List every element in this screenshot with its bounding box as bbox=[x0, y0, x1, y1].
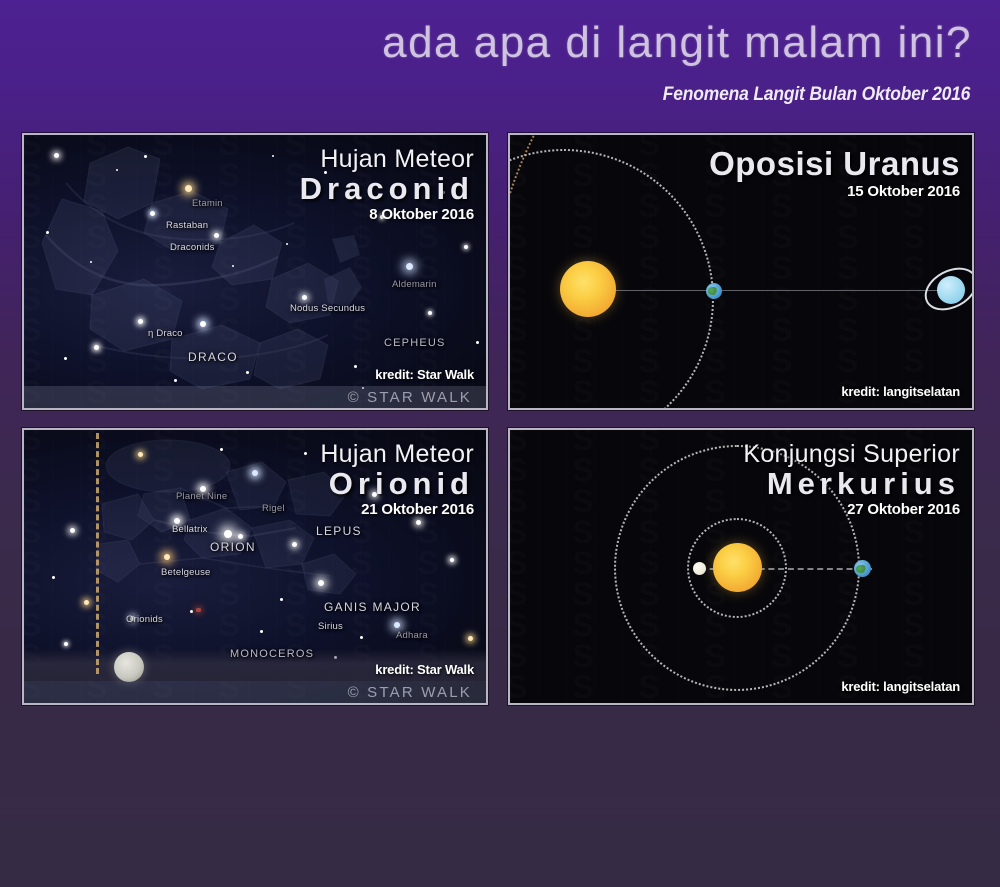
star-rigel bbox=[252, 470, 258, 476]
star bbox=[200, 321, 206, 327]
panel-date: 27 Oktober 2016 bbox=[743, 501, 960, 518]
panel-orionid-heading: Hujan Meteor Orionid 21 Oktober 2016 bbox=[320, 442, 474, 518]
constellation-label-orion: ORION bbox=[210, 540, 256, 554]
star bbox=[360, 636, 363, 639]
panel-date: 8 Oktober 2016 bbox=[300, 206, 474, 223]
star-label-rigel: Rigel bbox=[262, 503, 285, 514]
star bbox=[272, 155, 274, 157]
star-label-etamin: Etamin bbox=[192, 198, 223, 209]
starwalk-watermark-bar: © STAR WALK bbox=[24, 681, 486, 703]
earth-body bbox=[706, 283, 722, 299]
star bbox=[476, 341, 479, 344]
panel-kicker: Hujan Meteor bbox=[300, 147, 474, 173]
panel-date: 21 Oktober 2016 bbox=[320, 501, 474, 518]
star bbox=[70, 528, 75, 533]
star-rastaban bbox=[150, 211, 155, 216]
star bbox=[292, 542, 297, 547]
uranus-body bbox=[937, 276, 965, 304]
radiant-label-orionids: Orionids bbox=[126, 614, 163, 625]
star bbox=[260, 630, 263, 633]
page-title: ada apa di langit malam ini? bbox=[382, 18, 972, 68]
star-label-eta-draco: η Draco bbox=[148, 328, 183, 339]
star-label-betelgeuse: Betelgeuse bbox=[161, 567, 211, 578]
star bbox=[138, 452, 143, 457]
panel-uranus[interactable]: Oposisi Uranus 15 Oktober 2016 kredit: l… bbox=[508, 133, 974, 410]
star bbox=[144, 155, 147, 158]
panel-kicker: Oposisi Uranus bbox=[709, 147, 960, 182]
footer-bar: LANGITSELATAN #Media Astronomi Indonesia… bbox=[0, 715, 1000, 887]
star bbox=[450, 558, 454, 562]
panel-credit: kredit: langitselatan bbox=[841, 384, 960, 399]
panel-merkurius-heading: Konjungsi Superior Merkurius 27 Oktober … bbox=[743, 442, 960, 518]
constellation-label-cepheus: CEPHEUS bbox=[384, 337, 446, 349]
panel-orionid[interactable]: Hujan Meteor Orionid 21 Oktober 2016 Pla… bbox=[22, 428, 488, 705]
star-label-draconids: Draconids bbox=[170, 242, 215, 253]
panel-uranus-heading: Oposisi Uranus 15 Oktober 2016 bbox=[709, 147, 960, 200]
panel-name: Orionid bbox=[320, 468, 474, 501]
star bbox=[354, 365, 357, 368]
ecliptic-line bbox=[96, 428, 99, 674]
star-alnitak bbox=[238, 534, 243, 539]
star bbox=[52, 576, 55, 579]
starwalk-watermark-bar: © STAR WALK bbox=[24, 386, 486, 408]
page-subtitle: Fenomena Langit Bulan Oktober 2016 bbox=[663, 84, 970, 106]
star-nodus-secundus bbox=[302, 295, 307, 300]
star-alderamin bbox=[406, 263, 413, 270]
panel-name: Draconid bbox=[300, 173, 474, 206]
star bbox=[232, 265, 234, 267]
star bbox=[116, 169, 118, 171]
star-sirius bbox=[318, 580, 324, 586]
star-label-rastaban: Rastaban bbox=[166, 220, 208, 231]
star-label-sirius: Sirius bbox=[318, 621, 343, 632]
constellation-label-monoceros: MONOCEROS bbox=[230, 648, 314, 660]
panel-name: Merkurius bbox=[743, 468, 960, 501]
star bbox=[90, 261, 92, 263]
star bbox=[54, 153, 59, 158]
constellation-label-canis-major: GANIS MAJOR bbox=[324, 600, 421, 614]
star bbox=[220, 448, 223, 451]
sun-body bbox=[713, 543, 762, 592]
star bbox=[464, 245, 468, 249]
star bbox=[246, 371, 249, 374]
panel-kicker: Konjungsi Superior bbox=[743, 442, 960, 468]
moon-body bbox=[114, 652, 144, 682]
star-etamin bbox=[185, 185, 192, 192]
star bbox=[64, 642, 68, 646]
star-label-adhara: Adhara bbox=[396, 630, 428, 641]
star bbox=[280, 598, 283, 601]
star bbox=[286, 243, 288, 245]
star bbox=[174, 379, 177, 382]
mercury-body bbox=[693, 562, 706, 575]
star-label-planet-nine: Planet Nine bbox=[176, 491, 227, 502]
constellation-label-lepus: LEPUS bbox=[316, 524, 362, 538]
constellation-label-draco: DRACO bbox=[188, 350, 238, 364]
panel-credit: kredit: Star Walk bbox=[375, 367, 474, 382]
panel-draconid[interactable]: Hujan Meteor Draconid 8 Oktober 2016 Eta… bbox=[22, 133, 488, 410]
star bbox=[84, 600, 89, 605]
star-betelgeuse bbox=[164, 554, 170, 560]
star bbox=[428, 311, 432, 315]
star bbox=[46, 231, 49, 234]
star-label-nodus-secundus: Nodus Secundus bbox=[290, 303, 365, 314]
header-banner: ada apa di langit malam ini? Fenomena La… bbox=[0, 0, 1000, 130]
starwalk-watermark-text: © STAR WALK bbox=[348, 389, 472, 406]
starwalk-watermark-text: © STAR WALK bbox=[348, 684, 472, 701]
earth-body bbox=[854, 560, 871, 577]
sun-body bbox=[560, 261, 616, 317]
panel-credit: kredit: Star Walk bbox=[375, 662, 474, 677]
nebula-glow bbox=[196, 608, 201, 612]
panel-date: 15 Oktober 2016 bbox=[709, 183, 960, 200]
star-label-alderamin: Aldemarin bbox=[392, 279, 437, 290]
star bbox=[214, 233, 219, 238]
star bbox=[304, 452, 307, 455]
panel-draconid-heading: Hujan Meteor Draconid 8 Oktober 2016 bbox=[300, 147, 474, 223]
panel-merkurius[interactable]: Konjungsi Superior Merkurius 27 Oktober … bbox=[508, 428, 974, 705]
panel-credit: kredit: langitselatan bbox=[841, 679, 960, 694]
star bbox=[64, 357, 67, 360]
star-alnilam bbox=[224, 530, 232, 538]
panel-kicker: Hujan Meteor bbox=[320, 442, 474, 468]
star bbox=[190, 610, 193, 613]
opposition-alignment-line bbox=[602, 290, 962, 291]
star bbox=[416, 520, 421, 525]
star-eta-draco bbox=[138, 319, 143, 324]
star bbox=[94, 345, 99, 350]
star-label-bellatrix: Bellatrix bbox=[172, 524, 208, 535]
star-adhara bbox=[394, 622, 400, 628]
star bbox=[468, 636, 473, 641]
